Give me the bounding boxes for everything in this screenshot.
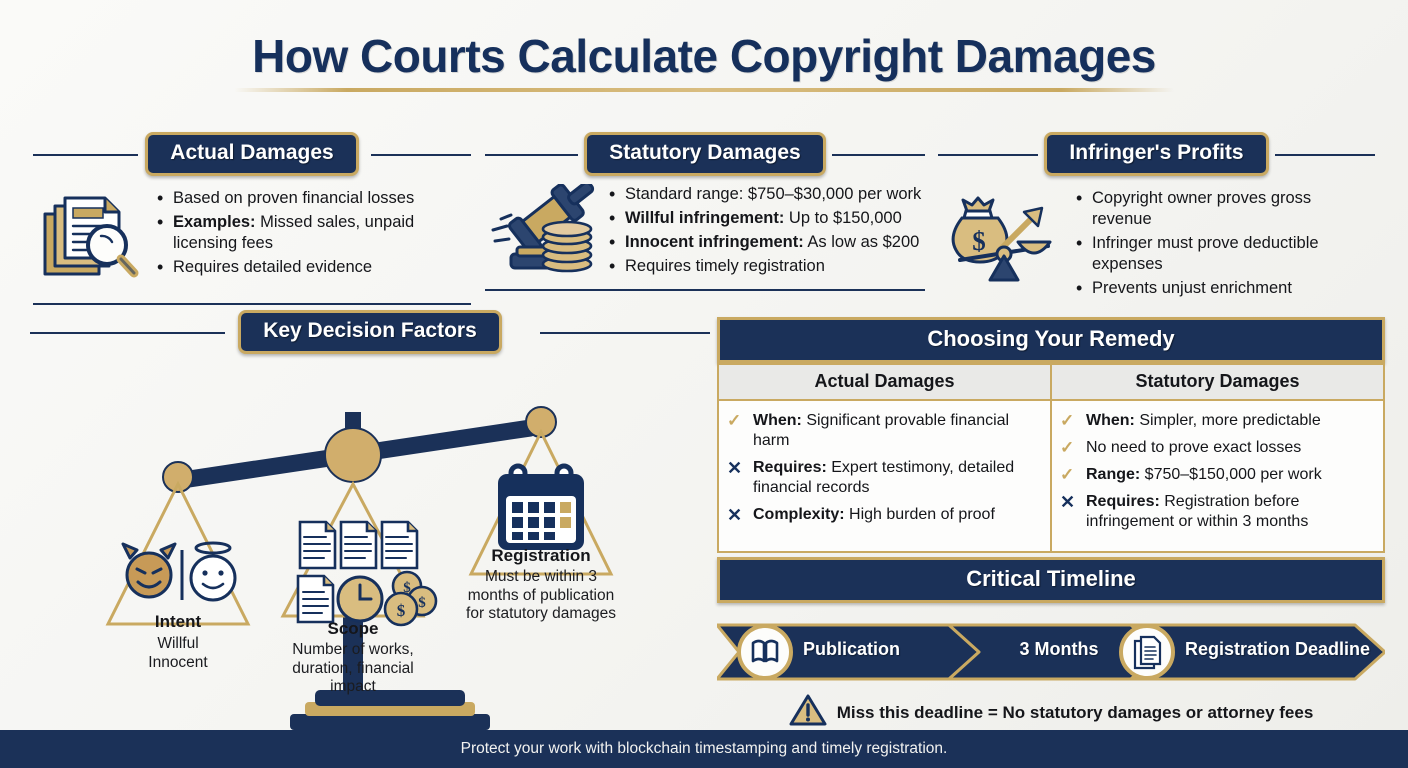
item-bold: When: [753,412,802,429]
bullet-text: Based on proven financial losses [173,189,414,207]
list-item: ✓Range: $750–$150,000 per work [1060,465,1373,485]
pan-label-registration: Registration Must be within 3 months of … [453,546,629,624]
balance-scale-diagram: $ $ $ [30,354,710,744]
list-item: ✕Requires: Registration before infringem… [1060,492,1373,532]
bullet-text: Standard range: $750–$30,000 per work [625,185,921,203]
section-key-decision-factors: Key Decision Factors [30,310,710,744]
footer-bar: Protect your work with blockchain timest… [0,730,1408,768]
timeline-step-label-registration-deadline: Registration Deadline [1185,639,1370,660]
remedy-comparison-table: Actual Damages Statutory Damages ✓When: … [717,363,1385,553]
item-bold: Range: [1086,466,1140,483]
item-text: Simpler, more predictable [1135,412,1321,429]
money-bag-scale-icon: $ [938,188,1064,289]
bullet-item: Standard range: $750–$30,000 per work [607,184,921,205]
panel-header: Infringer's Profits [938,132,1375,176]
pan-title: Registration [453,546,629,566]
panel-header: Actual Damages [33,132,471,176]
actual-damages-list: ✓When: Significant provable financial ha… [727,411,1040,525]
check-icon: ✓ [1060,464,1074,485]
panel-body: Standard range: $750–$30,000 per work Wi… [485,176,925,281]
warning-text: Miss this deadline = No statutory damage… [837,703,1314,723]
bullet-text: Copyright owner proves gross revenue [1092,189,1311,228]
column-header-actual-damages: Actual Damages [718,364,1051,400]
cross-icon: ✕ [727,457,742,480]
list-item: ✕Complexity: High burden of proof [727,505,1040,525]
bullet-text: Up to $150,000 [784,209,901,227]
list-item: ✓When: Significant provable financial ha… [727,411,1040,451]
bullet-bold: Examples: [173,213,256,231]
statutory-damages-list: ✓When: Simpler, more predictable ✓No nee… [1060,411,1373,532]
table-header-row: Actual Damages Statutory Damages [718,364,1384,400]
svg-text:$: $ [397,601,406,620]
panel-title-infringers-profits: Infringer's Profits [1044,132,1268,176]
bullet-item: Examples: Missed sales, unpaid licensing… [155,212,471,254]
bullet-bold: Willful infringement: [625,209,784,227]
bullet-text: Requires detailed evidence [173,258,372,276]
panel-body: Based on proven financial losses Example… [33,176,471,289]
timeline-track: Publication 3 Months Registration Deadli… [717,617,1385,687]
header-rule-left [938,154,1038,156]
cross-icon: ✕ [727,504,742,527]
gavel-coins-icon [485,184,597,281]
header-rule-left [485,154,578,156]
banner-critical-timeline: Critical Timeline [717,557,1385,603]
panel-infringers-profits: Infringer's Profits $ Copyright ow [938,132,1375,319]
devil-angel-faces-icon [123,543,235,600]
banner-choosing-your-remedy: Choosing Your Remedy [717,317,1385,363]
cell-statutory-damages: ✓When: Simpler, more predictable ✓No nee… [1051,400,1384,552]
timeline-step-label-3-months: 3 Months [989,639,1129,660]
list-item: ✓No need to prove exact losses [1060,438,1373,458]
panel-body: $ Copyright owner proves gross revenue I… [938,176,1375,303]
bullet-item: Willful infringement: Up to $150,000 [607,208,921,229]
bullet-item: Requires timely registration [607,256,921,277]
bullet-item: Innocent infringement: As low as $200 [607,232,921,253]
list-item: ✓When: Simpler, more predictable [1060,411,1373,431]
documents-magnifier-icon [33,188,145,289]
check-icon: ✓ [1060,437,1074,458]
panel-bullets: Copyright owner proves gross revenue Inf… [1074,188,1375,303]
svg-text:$: $ [418,595,426,611]
section-title-key-decision-factors: Key Decision Factors [238,310,502,354]
check-icon: ✓ [727,410,741,431]
bullet-text: Requires timely registration [625,257,825,275]
item-bold: Requires: [1086,493,1160,510]
section-critical-timeline: Critical Timeline [717,557,1385,732]
item-bold: Requires: [753,459,827,476]
item-text: No need to prove exact losses [1086,439,1301,456]
pan-subtext: Willful Innocent [108,635,248,672]
svg-text:$: $ [972,226,986,256]
header-rule-right [832,154,925,156]
pan-title: Scope [278,619,428,639]
header-rule-right [1275,154,1375,156]
cell-actual-damages: ✓When: Significant provable financial ha… [718,400,1051,552]
title-underline [234,88,1174,92]
bullet-item: Infringer must prove deductible expenses [1074,233,1375,275]
footer-text: Protect your work with blockchain timest… [461,740,948,758]
bullet-bold: Innocent infringement: [625,233,804,251]
pan-title: Intent [108,612,248,632]
section-choosing-your-remedy: Choosing Your Remedy Actual Damages Stat… [717,317,1385,553]
page-title: How Courts Calculate Copyright Damages [0,32,1408,80]
panel-header: Statutory Damages [485,132,925,176]
list-item: ✕Requires: Expert testimony, detailed fi… [727,458,1040,498]
item-text: $750–$150,000 per work [1140,466,1321,483]
panel-bullets: Standard range: $750–$30,000 per work Wi… [607,184,921,280]
bullet-item: Copyright owner proves gross revenue [1074,188,1375,230]
bullet-item: Based on proven financial losses [155,188,471,209]
pan-label-scope: Scope Number of works, duration, financi… [278,619,428,697]
bullet-item: Requires detailed evidence [155,257,471,278]
header-rule-right [540,332,710,334]
warning-triangle-icon [789,693,827,732]
panel-bullets: Based on proven financial losses Example… [155,188,471,281]
bullet-text: As low as $200 [804,233,920,251]
section-header: Key Decision Factors [30,310,710,354]
svg-text:$: $ [403,580,411,596]
header-rule-right [371,154,471,156]
open-book-icon [753,641,777,661]
item-bold: When: [1086,412,1135,429]
item-text: High burden of proof [845,506,995,523]
panel-bottom-rule [485,289,925,291]
panel-statutory-damages: Statutory Damages [485,132,925,291]
panel-title-actual-damages: Actual Damages [145,132,358,176]
calendar-icon [498,466,584,550]
pan-subtext: Number of works, duration, financial imp… [278,641,428,697]
panel-title-statutory-damages: Statutory Damages [584,132,825,176]
bullet-text: Infringer must prove deductible expenses [1092,234,1319,273]
panel-bottom-rule [33,303,471,305]
timeline-warning: Miss this deadline = No statutory damage… [717,693,1385,732]
documents-stack-icon [1135,637,1160,668]
header-rule-left [30,332,225,334]
check-icon: ✓ [1060,410,1074,431]
cross-icon: ✕ [1060,491,1075,514]
bullet-item: Prevents unjust enrichment [1074,278,1375,299]
pan-label-intent: Intent Willful Innocent [108,612,248,672]
item-bold: Complexity: [753,506,845,523]
panel-actual-damages: Actual Damages [33,132,471,305]
column-header-statutory-damages: Statutory Damages [1051,364,1384,400]
infographic-canvas: How Courts Calculate Copyright Damages A… [0,0,1408,768]
pan-subtext: Must be within 3 months of publication f… [453,568,629,624]
header-rule-left [33,154,138,156]
page-title-block: How Courts Calculate Copyright Damages [0,32,1408,92]
documents-clock-coins-icon: $ $ $ [298,522,436,625]
bullet-text: Prevents unjust enrichment [1092,279,1292,297]
table-row: ✓When: Significant provable financial ha… [718,400,1384,552]
timeline-step-label-publication: Publication [803,639,900,660]
